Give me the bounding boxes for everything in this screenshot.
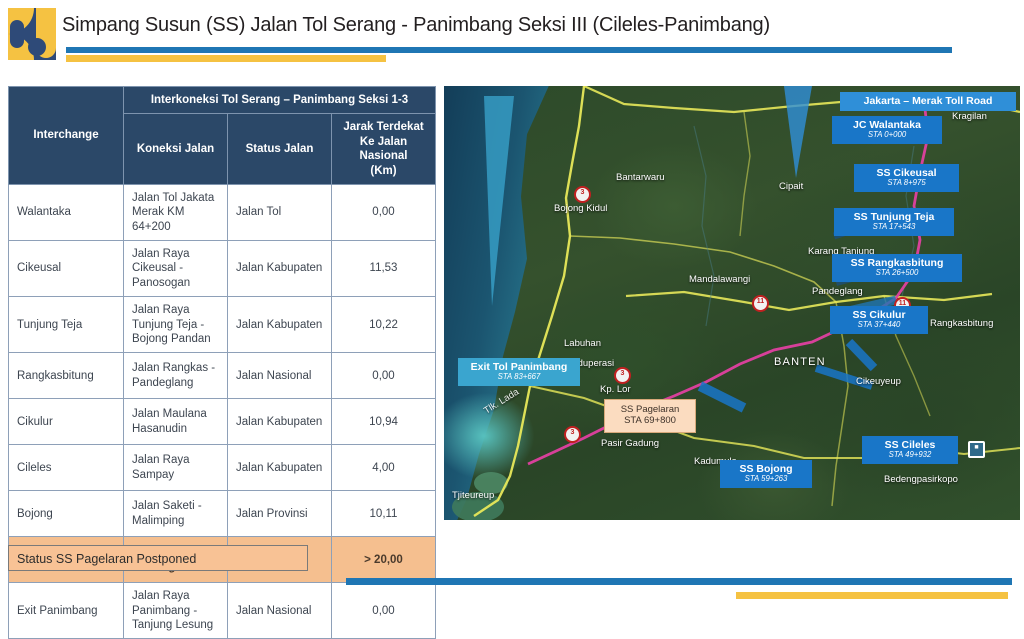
th-group: Interkoneksi Tol Serang – Panimbang Seks…	[124, 87, 436, 114]
header-rule-blue	[66, 47, 952, 53]
footer-rule-blue	[346, 578, 1012, 585]
map-label-banten-region: BANTEN	[774, 356, 826, 368]
table-row[interactable]: Tunjung TejaJalan Raya Tunjung Teja - Bo…	[9, 297, 436, 353]
cell-interchange: Cikeusal	[9, 241, 124, 297]
callout-sta: STA 83+667	[467, 373, 571, 382]
th-jarak-line-2: Ke Jalan	[360, 136, 407, 148]
cell-koneksi-jalan: Jalan Raya Tunjung Teja - Bojong Pandan	[124, 297, 228, 353]
cell-jarak: > 20,00	[332, 537, 436, 583]
cell-jarak: 0,00	[332, 353, 436, 399]
cell-koneksi-jalan: Jalan Raya Sampay	[124, 445, 228, 491]
cell-interchange: Cikulur	[9, 399, 124, 445]
route-marker-icon: 3	[574, 186, 591, 203]
page-title: Simpang Susun (SS) Jalan Tol Serang - Pa…	[62, 14, 770, 37]
table-head: Interchange Interkoneksi Tol Serang – Pa…	[9, 87, 436, 185]
cell-jarak: 4,00	[332, 445, 436, 491]
table-row[interactable]: BojongJalan Saketi - MalimpingJalan Prov…	[9, 491, 436, 537]
cell-koneksi-jalan: Jalan Tol Jakata Merak KM 64+200	[124, 184, 228, 240]
callout-ss-cileles[interactable]: SS Cileles STA 49+932	[862, 436, 958, 464]
callout-ss-rangkasbitung[interactable]: SS Rangkasbitung STA 26+500	[832, 254, 962, 282]
page-header: Simpang Susun (SS) Jalan Tol Serang - Pa…	[0, 0, 1024, 70]
cell-jarak: 0,00	[332, 583, 436, 639]
cell-jarak: 10,22	[332, 297, 436, 353]
callout-ss-cikulur[interactable]: SS Cikulur STA 37+440	[830, 306, 928, 334]
callout-ss-cikeusal[interactable]: SS Cikeusal STA 8+975	[854, 164, 959, 192]
cell-koneksi-jalan: Jalan Raya Cikeusal - Panosogan	[124, 241, 228, 297]
th-koneksi-jalan: Koneksi Jalan	[124, 114, 228, 185]
callout-ss-pagelaran[interactable]: SS Pagelaran STA 69+800	[604, 399, 696, 433]
table-row[interactable]: RangkasbitungJalan Rangkas - PandeglangJ…	[9, 353, 436, 399]
th-jarak-terdekat: Jarak Terdekat Ke Jalan Nasional (Km)	[332, 114, 436, 185]
th-jarak-line-4: (Km)	[370, 165, 396, 177]
map-label-rangkasbitung: Rangkasbitung	[930, 318, 993, 329]
cell-interchange: Tunjung Teja	[9, 297, 124, 353]
callout-jc-walantaka[interactable]: JC Walantaka STA 0+000	[832, 116, 942, 144]
route-marker-icon: 3	[564, 426, 581, 443]
table-row[interactable]: CikulurJalan Maulana HasanudinJalan Kabu…	[9, 399, 436, 445]
map-marker-icon: ■	[968, 441, 985, 458]
callout-title: Jakarta – Merak Toll Road	[849, 95, 1007, 107]
cell-status-jalan: Jalan Kabupaten	[228, 297, 332, 353]
route-marker-icon: 3	[614, 367, 631, 384]
map-label-kp-lor: Kp. Lor	[600, 384, 631, 395]
map-label-bedengpasirkopo: Bedengpasirkopo	[884, 474, 958, 485]
callout-sta: STA 0+000	[841, 131, 933, 140]
status-badge: Status SS Pagelaran Postponed	[8, 545, 308, 571]
cell-koneksi-jalan: Jalan Raya Panimbang - Tanjung Lesung	[124, 583, 228, 639]
cell-koneksi-jalan: Jalan Maulana Hasanudin	[124, 399, 228, 445]
map-label-bantarwaru: Bantarwaru	[616, 172, 665, 183]
map-panel[interactable]: Kragilan Bantarwaru Cipait Bojong Kidul …	[444, 86, 1020, 520]
cell-interchange: Bojong	[9, 491, 124, 537]
th-status-jalan: Status Jalan	[228, 114, 332, 185]
callout-jakarta-merak-toll-road[interactable]: Jakarta – Merak Toll Road	[840, 92, 1016, 111]
cell-jarak: 10,94	[332, 399, 436, 445]
map-label-mandalawangi: Mandalawangi	[689, 274, 750, 285]
cell-status-jalan: Jalan Tol	[228, 184, 332, 240]
footer-rule-yellow	[736, 592, 1008, 599]
th-interchange: Interchange	[9, 87, 124, 185]
map-label-kragilan: Kragilan	[952, 111, 987, 122]
map-label-cikeuyeup: Cikeuyeup	[856, 376, 901, 387]
pu-logo-icon	[8, 8, 56, 60]
cell-jarak: 11,53	[332, 241, 436, 297]
cell-interchange: Exit Panimbang	[9, 583, 124, 639]
cell-status-jalan: Jalan Provinsi	[228, 491, 332, 537]
cell-koneksi-jalan: Jalan Saketi - Malimping	[124, 491, 228, 537]
cell-koneksi-jalan: Jalan Rangkas - Pandeglang	[124, 353, 228, 399]
header-rule-yellow	[66, 55, 386, 62]
map-label-labuhan: Labuhan	[564, 338, 601, 349]
cell-status-jalan: Jalan Kabupaten	[228, 399, 332, 445]
callout-sta: STA 59+263	[729, 475, 803, 484]
table-head-row-1: Interchange Interkoneksi Tol Serang – Pa…	[9, 87, 436, 114]
map-label-pandeglang: Pandeglang	[812, 286, 863, 297]
callout-exit-tol-panimbang[interactable]: Exit Tol Panimbang STA 83+667	[458, 358, 580, 386]
callout-ss-tunjung-teja[interactable]: SS Tunjung Teja STA 17+543	[834, 208, 954, 236]
callout-ss-bojong[interactable]: SS Bojong STA 59+263	[720, 460, 812, 488]
callout-sta: STA 49+932	[871, 451, 949, 460]
cell-status-jalan: Jalan Kabupaten	[228, 241, 332, 297]
callout-sta: STA 69+800	[615, 416, 685, 427]
callout-sta: STA 17+543	[843, 223, 945, 232]
table-row[interactable]: CikeusalJalan Raya Cikeusal - PanosoganJ…	[9, 241, 436, 297]
cell-interchange: Rangkasbitung	[9, 353, 124, 399]
route-marker-icon: 11	[752, 295, 769, 312]
cell-status-jalan: Jalan Nasional	[228, 583, 332, 639]
cell-jarak: 0,00	[332, 184, 436, 240]
map-label-tjiteureup: Tjiteureup	[452, 490, 494, 501]
map-label-bojong-kidul: Bojong Kidul	[554, 203, 607, 214]
table-row[interactable]: Exit PanimbangJalan Raya Panimbang - Tan…	[9, 583, 436, 639]
table-row[interactable]: WalantakaJalan Tol Jakata Merak KM 64+20…	[9, 184, 436, 240]
th-jarak-line-3: Nasional	[360, 150, 408, 162]
cell-jarak: 10,11	[332, 491, 436, 537]
cell-status-jalan: Jalan Nasional	[228, 353, 332, 399]
table-row[interactable]: CilelesJalan Raya SampayJalan Kabupaten4…	[9, 445, 436, 491]
callout-sta: STA 8+975	[863, 179, 950, 188]
callout-sta: STA 37+440	[839, 321, 919, 330]
callout-sta: STA 26+500	[841, 269, 953, 278]
cell-interchange: Walantaka	[9, 184, 124, 240]
th-jarak-line-1: Jarak Terdekat	[343, 121, 423, 133]
map-label-cipait: Cipait	[779, 181, 803, 192]
cell-status-jalan: Jalan Kabupaten	[228, 445, 332, 491]
cell-interchange: Cileles	[9, 445, 124, 491]
map-label-pasir-gadung: Pasir Gadung	[601, 438, 659, 449]
